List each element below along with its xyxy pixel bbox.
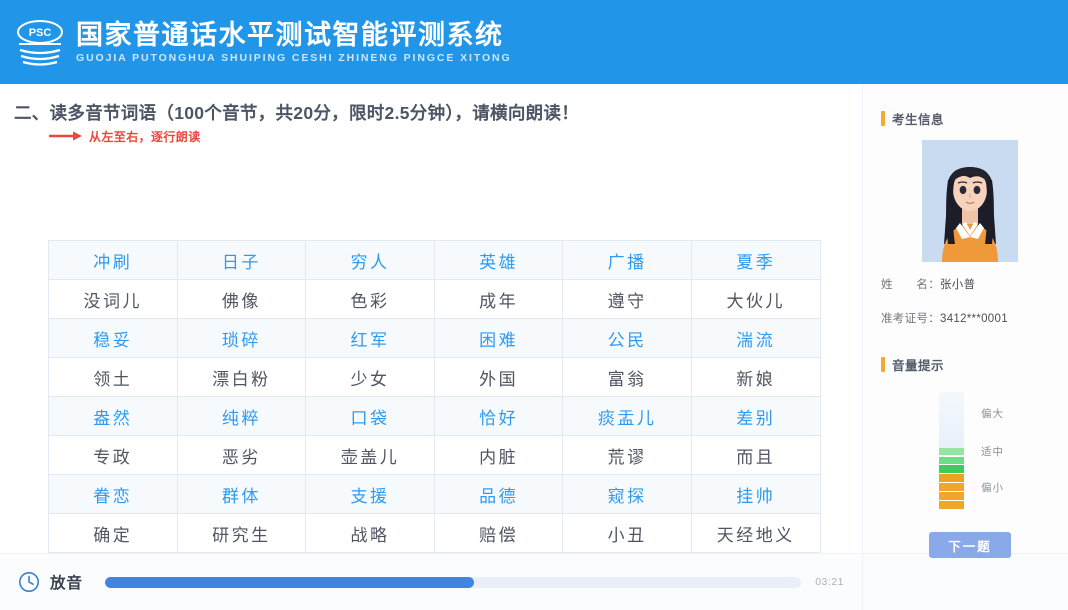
- word-cell: 纯粹: [177, 397, 306, 436]
- playback-progress-bar[interactable]: [105, 577, 801, 588]
- volume-meter-segment: [939, 448, 964, 455]
- candidate-name-line: 姓 名：张小普: [881, 275, 1059, 296]
- word-cell: 研究生: [177, 514, 306, 553]
- candidate-ticket-value: 3412***0001: [940, 313, 1008, 325]
- word-cell: 成年: [434, 280, 563, 319]
- word-cell: 壶盖儿: [306, 436, 435, 475]
- candidate-name-value: 张小普: [940, 279, 975, 291]
- app-title-cn: 国家普通话水平测试智能评测系统: [76, 19, 512, 51]
- candidate-ticket-label: 准考证号：: [881, 313, 940, 325]
- app-root: PSC 国家普通话水平测试智能评测系统 GUOJIA PUTONGHUA SHU…: [0, 0, 1068, 610]
- question-title: 二、读多音节词语（100个音节，共20分，限时2.5分钟），请横向朗读！: [14, 100, 579, 125]
- word-cell: 红军: [306, 319, 435, 358]
- candidate-ticket-line: 准考证号：3412***0001: [881, 309, 1059, 330]
- word-cell: 困难: [434, 319, 563, 358]
- volume-meter-label: 偏小: [981, 480, 1004, 495]
- word-cell: 少女: [306, 358, 435, 397]
- word-cell: 内脏: [434, 436, 563, 475]
- word-cell: 漂白粉: [177, 358, 306, 397]
- word-cell: 窥探: [563, 475, 692, 514]
- volume-meter-segment: [939, 457, 964, 464]
- clock-play-icon: [18, 571, 40, 593]
- word-cell: 佛像: [177, 280, 306, 319]
- volume-meter-segment: [939, 483, 964, 490]
- word-cell: 挂帅: [691, 475, 820, 514]
- word-cell: 大伙儿: [691, 280, 820, 319]
- word-table-row: 稳妥琐碎红军困难公民湍流: [49, 319, 821, 358]
- word-cell: 痰盂儿: [563, 397, 692, 436]
- candidate-info-section: 考生信息: [881, 110, 1059, 330]
- word-cell: 新娘: [691, 358, 820, 397]
- volume-meter-segment: [939, 465, 964, 472]
- volume-meter-label: 偏大: [981, 406, 1004, 421]
- word-cell: 广播: [563, 241, 692, 280]
- word-cell: 而且: [691, 436, 820, 475]
- word-cell: 公民: [563, 319, 692, 358]
- word-cell: 英雄: [434, 241, 563, 280]
- word-cell: 色彩: [306, 280, 435, 319]
- word-cell: 赔偿: [434, 514, 563, 553]
- volume-meter-segment: [939, 474, 964, 481]
- playback-progress-fill: [105, 577, 474, 588]
- volume-meter-labels: 偏大适中偏小: [981, 392, 1051, 510]
- word-cell: 外国: [434, 358, 563, 397]
- next-question-button[interactable]: 下一题: [929, 532, 1011, 558]
- accent-bar: [881, 357, 885, 372]
- playback-time: 03:21: [815, 576, 844, 588]
- reading-direction-hint: 从左至右，逐行朗读: [48, 128, 201, 144]
- app-header: PSC 国家普通话水平测试智能评测系统 GUOJIA PUTONGHUA SHU…: [0, 0, 1068, 84]
- word-cell: 支援: [306, 475, 435, 514]
- word-cell: 荒谬: [563, 436, 692, 475]
- word-cell: 确定: [49, 514, 178, 553]
- word-cell: 冲刷: [49, 241, 178, 280]
- playback-label: 放音: [50, 571, 83, 593]
- volume-meter: 偏大适中偏小: [939, 392, 1059, 510]
- word-cell: 战略: [306, 514, 435, 553]
- candidate-name-label: 姓 名：: [881, 279, 940, 291]
- question-content: 二、读多音节词语（100个音节，共20分，限时2.5分钟），请横向朗读！ 从左至…: [0, 84, 862, 610]
- word-table-row: 领土漂白粉少女外国富翁新娘: [49, 358, 821, 397]
- footer-right-panel: 下一题: [862, 553, 1068, 610]
- volume-panel-header: 音量提示: [881, 356, 1059, 372]
- app-title-pinyin: GUOJIA PUTONGHUA SHUIPING CESHI ZHINENG …: [76, 51, 512, 65]
- volume-meter-bar: [939, 392, 964, 510]
- word-cell: 夏季: [691, 241, 820, 280]
- arrow-right-icon: [48, 130, 84, 142]
- word-cell: 日子: [177, 241, 306, 280]
- word-cell: 富翁: [563, 358, 692, 397]
- word-cell: 小丑: [563, 514, 692, 553]
- volume-meter-label: 适中: [981, 444, 1004, 459]
- word-cell: 没词儿: [49, 280, 178, 319]
- word-table-row: 冲刷日子穷人英雄广播夏季: [49, 241, 821, 280]
- psc-logo-icon: PSC: [14, 16, 66, 68]
- word-cell: 盎然: [49, 397, 178, 436]
- app-title-block: 国家普通话水平测试智能评测系统 GUOJIA PUTONGHUA SHUIPIN…: [76, 19, 512, 65]
- word-cell: 差别: [691, 397, 820, 436]
- playback-footer: 放音 03:21: [0, 553, 862, 610]
- volume-meter-segment: [939, 492, 964, 499]
- word-cell: 恶劣: [177, 436, 306, 475]
- word-cell: 琐碎: [177, 319, 306, 358]
- volume-meter-empty: [939, 392, 964, 448]
- volume-section: 音量提示 偏大适中偏小: [881, 356, 1059, 510]
- candidate-panel-header: 考生信息: [881, 110, 1059, 126]
- word-cell: 天经地义: [691, 514, 820, 553]
- word-table-row: 确定研究生战略赔偿小丑天经地义: [49, 514, 821, 553]
- word-cell: 领土: [49, 358, 178, 397]
- word-cell: 专政: [49, 436, 178, 475]
- word-cell: 恰好: [434, 397, 563, 436]
- word-cell: 品德: [434, 475, 563, 514]
- word-table-row: 眷恋群体支援品德窥探挂帅: [49, 475, 821, 514]
- body-wrapper: 二、读多音节词语（100个音节，共20分，限时2.5分钟），请横向朗读！ 从左至…: [0, 84, 1068, 610]
- word-cell: 湍流: [691, 319, 820, 358]
- word-table-row: 盎然纯粹口袋恰好痰盂儿差别: [49, 397, 821, 436]
- word-cell: 稳妥: [49, 319, 178, 358]
- volume-panel-title: 音量提示: [892, 355, 944, 374]
- candidate-photo: [922, 140, 1018, 262]
- word-cell: 群体: [177, 475, 306, 514]
- word-table-row: 没词儿佛像色彩成年遵守大伙儿: [49, 280, 821, 319]
- word-cell: 穷人: [306, 241, 435, 280]
- volume-meter-segment: [939, 501, 964, 508]
- word-cell: 眷恋: [49, 475, 178, 514]
- candidate-panel-title: 考生信息: [892, 109, 944, 128]
- word-cell: 遵守: [563, 280, 692, 319]
- accent-bar: [881, 111, 885, 126]
- svg-text:PSC: PSC: [29, 27, 52, 39]
- word-cell: 口袋: [306, 397, 435, 436]
- hint-text: 从左至右，逐行朗读: [89, 128, 201, 145]
- word-table-row: 专政恶劣壶盖儿内脏荒谬而且: [49, 436, 821, 475]
